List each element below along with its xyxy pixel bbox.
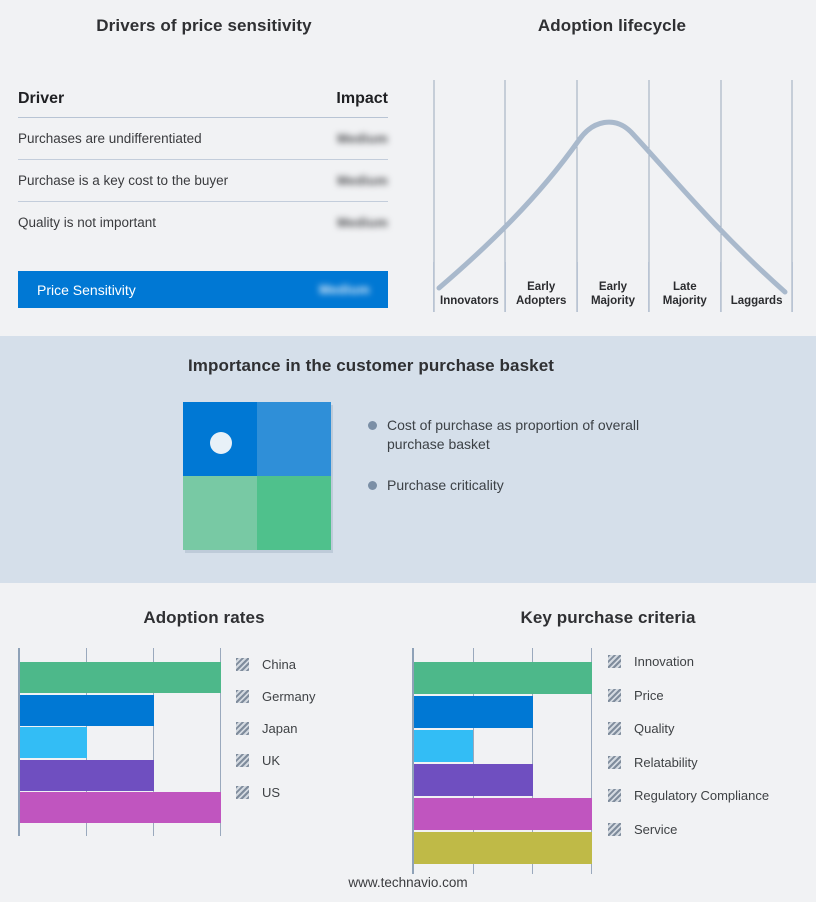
- list-item: Germany: [236, 680, 315, 712]
- drivers-panel: Drivers of price sensitivity Driver Impa…: [0, 0, 408, 336]
- list-item: Purchase criticality: [368, 476, 698, 495]
- footer-url: www.technavio.com: [0, 875, 816, 890]
- legend-label: Quality: [634, 721, 674, 736]
- bar-price: [414, 696, 533, 728]
- table-row: Quality is not important Medium: [18, 202, 388, 243]
- purchase-basket-matrix: [183, 402, 331, 550]
- list-item: China: [236, 648, 315, 680]
- drivers-title: Drivers of price sensitivity: [0, 16, 408, 36]
- column-header-driver: Driver: [18, 90, 64, 108]
- list-item: Relatability: [608, 746, 769, 780]
- legend-swatch-icon: [608, 722, 621, 735]
- bar-quality: [414, 730, 473, 762]
- matrix-wrapper: [183, 402, 331, 550]
- lifecycle-category-laggards: Laggards: [721, 262, 793, 312]
- bullet-icon: [368, 481, 377, 490]
- legend-swatch-icon: [608, 789, 621, 802]
- legend-label: Germany: [262, 689, 315, 704]
- purchase-criteria-legend: Innovation Price Quality Relatability Re…: [608, 645, 769, 846]
- bar-china: [20, 662, 221, 693]
- list-item: Japan: [236, 712, 315, 744]
- lifecycle-category-innovators: Innovators: [433, 262, 506, 312]
- legend-swatch-icon: [236, 690, 249, 703]
- legend-label: Price: [634, 688, 664, 703]
- matrix-quadrant-top-left: [183, 402, 257, 476]
- list-item: Service: [608, 813, 769, 847]
- list-item: US: [236, 776, 315, 808]
- list-item: Cost of purchase as proportion of overal…: [368, 416, 698, 454]
- price-sensitivity-highlight-row: Price Sensitivity Medium: [18, 271, 388, 308]
- legend-swatch-icon: [236, 722, 249, 735]
- purchase-basket-band: Importance in the customer purchase bask…: [0, 336, 816, 583]
- legend-swatch-icon: [236, 786, 249, 799]
- purchase-criteria-panel: Key purchase criteria Innovation Price Q…: [400, 583, 816, 902]
- column-header-impact: Impact: [336, 90, 388, 108]
- purchase-basket-legend: Cost of purchase as proportion of overal…: [368, 416, 698, 517]
- legend-swatch-icon: [608, 756, 621, 769]
- infographic-page: Drivers of price sensitivity Driver Impa…: [0, 0, 816, 902]
- price-sensitivity-label: Price Sensitivity: [37, 282, 136, 298]
- impact-value: Medium: [337, 131, 388, 146]
- list-item: Quality: [608, 712, 769, 746]
- list-item: Regulatory Compliance: [608, 779, 769, 813]
- impact-value: Medium: [337, 173, 388, 188]
- lifecycle-category-early-adopters: Early Adopters: [506, 262, 578, 312]
- lifecycle-category-late-majority: Late Majority: [649, 262, 721, 312]
- legend-swatch-icon: [236, 658, 249, 671]
- legend-swatch-icon: [236, 754, 249, 767]
- list-item: UK: [236, 744, 315, 776]
- legend-label: Japan: [262, 721, 297, 736]
- driver-label: Quality is not important: [18, 215, 156, 230]
- legend-label: UK: [262, 753, 280, 768]
- matrix-quadrant-bottom-right: [257, 476, 331, 550]
- adoption-rates-legend: China Germany Japan UK US: [236, 648, 315, 808]
- matrix-position-marker-dot: [210, 432, 232, 454]
- legend-swatch-icon: [608, 689, 621, 702]
- bar-japan: [20, 727, 87, 758]
- table-row: Purchase is a key cost to the buyer Medi…: [18, 160, 388, 202]
- legend-swatch-icon: [608, 823, 621, 836]
- adoption-rates-panel: Adoption rates China Germany Japan: [0, 583, 408, 902]
- bar-service: [414, 832, 592, 864]
- bar-uk: [20, 760, 154, 791]
- bullet-icon: [368, 421, 377, 430]
- legend-label: US: [262, 785, 280, 800]
- purchase-basket-title: Importance in the customer purchase bask…: [0, 356, 742, 376]
- adoption-lifecycle-title: Adoption lifecycle: [408, 16, 816, 36]
- legend-label: Relatability: [634, 755, 698, 770]
- price-sensitivity-impact: Medium: [319, 282, 370, 297]
- bar-regulatory-compliance: [414, 798, 592, 830]
- purchase-criteria-chart: [412, 648, 592, 874]
- legend-label: Purchase criticality: [387, 476, 504, 495]
- bar-germany: [20, 695, 154, 726]
- legend-label: China: [262, 657, 296, 672]
- list-item: Price: [608, 679, 769, 713]
- bar-relatability: [414, 764, 533, 796]
- matrix-quadrant-top-right: [257, 402, 331, 476]
- drivers-table: Driver Impact Purchases are undifferenti…: [18, 90, 388, 243]
- driver-label: Purchase is a key cost to the buyer: [18, 173, 228, 188]
- adoption-rates-title: Adoption rates: [0, 608, 408, 628]
- purchase-criteria-title: Key purchase criteria: [400, 608, 816, 628]
- legend-swatch-icon: [608, 655, 621, 668]
- table-row: Purchases are undifferentiated Medium: [18, 118, 388, 160]
- lifecycle-category-early-majority: Early Majority: [578, 262, 650, 312]
- bar-us: [20, 792, 221, 823]
- matrix-quadrant-bottom-left: [183, 476, 257, 550]
- bottom-row: Adoption rates China Germany Japan: [0, 583, 816, 902]
- adoption-lifecycle-panel: Adoption lifecycle Innovators Ea: [408, 0, 816, 336]
- bar-innovation: [414, 662, 592, 694]
- drivers-table-header: Driver Impact: [18, 90, 388, 118]
- legend-label: Service: [634, 822, 677, 837]
- legend-label: Cost of purchase as proportion of overal…: [387, 416, 657, 454]
- lifecycle-category-labels: Innovators Early Adopters Early Majority…: [433, 262, 793, 312]
- top-row: Drivers of price sensitivity Driver Impa…: [0, 0, 816, 336]
- adoption-rates-chart: [18, 648, 221, 836]
- driver-label: Purchases are undifferentiated: [18, 131, 202, 146]
- legend-label: Innovation: [634, 654, 694, 669]
- impact-value: Medium: [337, 215, 388, 230]
- legend-label: Regulatory Compliance: [634, 788, 769, 803]
- list-item: Innovation: [608, 645, 769, 679]
